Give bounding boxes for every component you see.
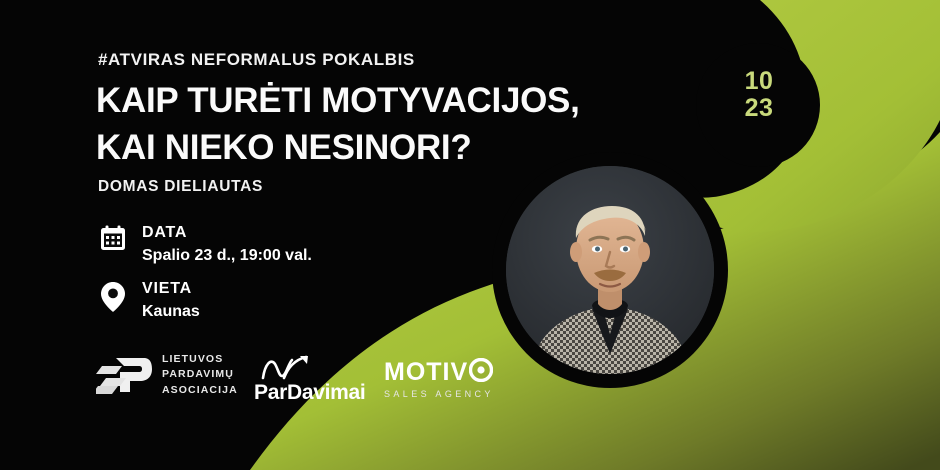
lpa-wordmark: LIETUVOS PARDAVIMŲ ASOCIACIJA bbox=[162, 352, 238, 398]
info-row-venue: VIETA Kaunas bbox=[98, 280, 200, 322]
logo-lietuvos-pardavimu-asociacija: LIETUVOS PARDAVIMŲ ASOCIACIJA bbox=[96, 352, 238, 398]
motivo-tagline: SALES AGENCY bbox=[384, 389, 514, 399]
logo-pardavimai: ParDavimai bbox=[254, 354, 374, 405]
lpa-line-3: ASOCIACIJA bbox=[162, 383, 238, 398]
speaker-name: DOMAS DIELIAUTAS bbox=[98, 178, 263, 196]
title-line-2: KAI NIEKO NESINORI? bbox=[96, 125, 696, 172]
event-poster: #ATVIRAS NEFORMALUS POKALBIS KAIP TURĖTI… bbox=[0, 0, 940, 470]
lpa-line-2: PARDAVIMŲ bbox=[162, 367, 238, 382]
date-label: DATA bbox=[142, 224, 312, 243]
date-badge-day: 23 bbox=[722, 95, 796, 122]
logo-motivo: MOTIV SALES AGENCY bbox=[384, 358, 514, 399]
page-title: KAIP TURĖTI MOTYVACIJOS, KAI NIEKO NESIN… bbox=[96, 78, 696, 171]
title-line-1: KAIP TURĖTI MOTYVACIJOS, bbox=[96, 81, 580, 120]
lpa-mark-icon bbox=[96, 352, 152, 398]
info-row-date: DATA Spalio 23 d., 19:00 val. bbox=[98, 224, 312, 266]
date-text-group: DATA Spalio 23 d., 19:00 val. bbox=[142, 224, 312, 266]
date-badge: 10 23 bbox=[722, 68, 796, 122]
date-value: Spalio 23 d., 19:00 val. bbox=[142, 245, 312, 267]
venue-value: Kaunas bbox=[142, 301, 200, 323]
location-pin-icon bbox=[98, 280, 128, 314]
motivo-name: MOTIV bbox=[384, 358, 468, 387]
lpa-line-1: LIETUVOS bbox=[162, 352, 238, 367]
date-badge-month: 10 bbox=[722, 68, 796, 95]
pardavimai-wordmark: ParDavimai bbox=[254, 381, 374, 405]
motivo-wordmark: MOTIV bbox=[384, 358, 514, 387]
calendar-icon bbox=[98, 224, 128, 258]
speaker-portrait bbox=[506, 166, 714, 374]
event-hashtag: #ATVIRAS NEFORMALUS POKALBIS bbox=[98, 50, 415, 70]
venue-text-group: VIETA Kaunas bbox=[142, 280, 200, 322]
motivo-ring-icon bbox=[469, 358, 493, 387]
venue-label: VIETA bbox=[142, 280, 200, 299]
